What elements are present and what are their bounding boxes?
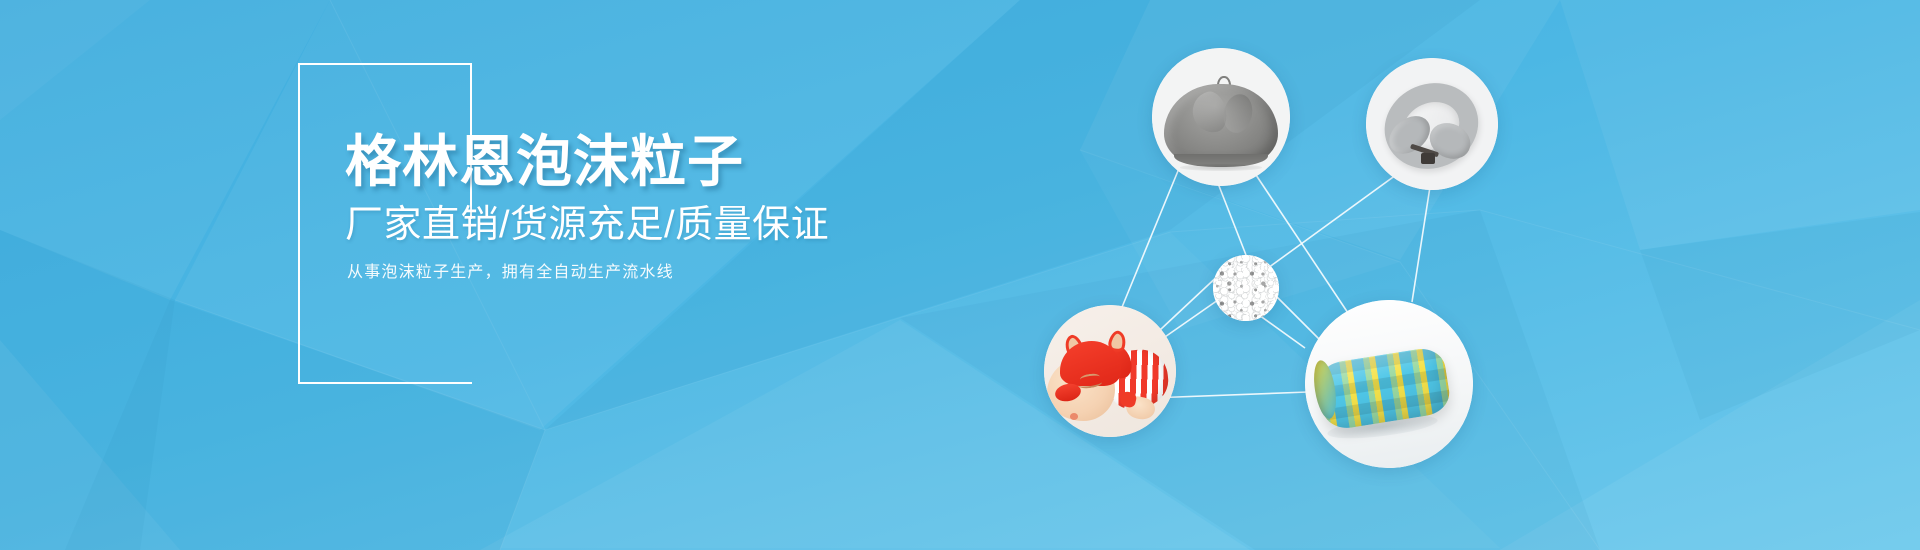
product-node-checkered-pillow[interactable] [1305,300,1473,468]
product-node-neck-pillow[interactable] [1366,58,1498,190]
product-node-pig-plush[interactable] [1044,305,1176,437]
banner-text-block: 格林恩泡沫粒子 厂家直销/货源充足/质量保证 从事泡沫粒子生产，拥有全自动生产流… [345,132,965,284]
u-shaped-neck-pillow-icon [1366,58,1498,190]
foam-beads-icon [1213,255,1279,321]
promo-banner: 格林恩泡沫粒子 厂家直销/货源充足/质量保证 从事泡沫粒子生产，拥有全自动生产流… [0,0,1920,550]
banner-subtitle: 厂家直销/货源充足/质量保证 [345,204,965,247]
banner-tagline: 从事泡沫粒子生产，拥有全自动生产流水线 [347,263,965,284]
checkered-bolster-pillow-icon [1305,300,1473,468]
pig-plush-toy-icon [1044,305,1176,437]
product-node-beanbag[interactable] [1152,48,1290,186]
bean-bag-chair-icon [1152,48,1290,186]
page-title: 格林恩泡沫粒子 [345,132,965,192]
product-node-foam-beads[interactable] [1213,255,1279,321]
